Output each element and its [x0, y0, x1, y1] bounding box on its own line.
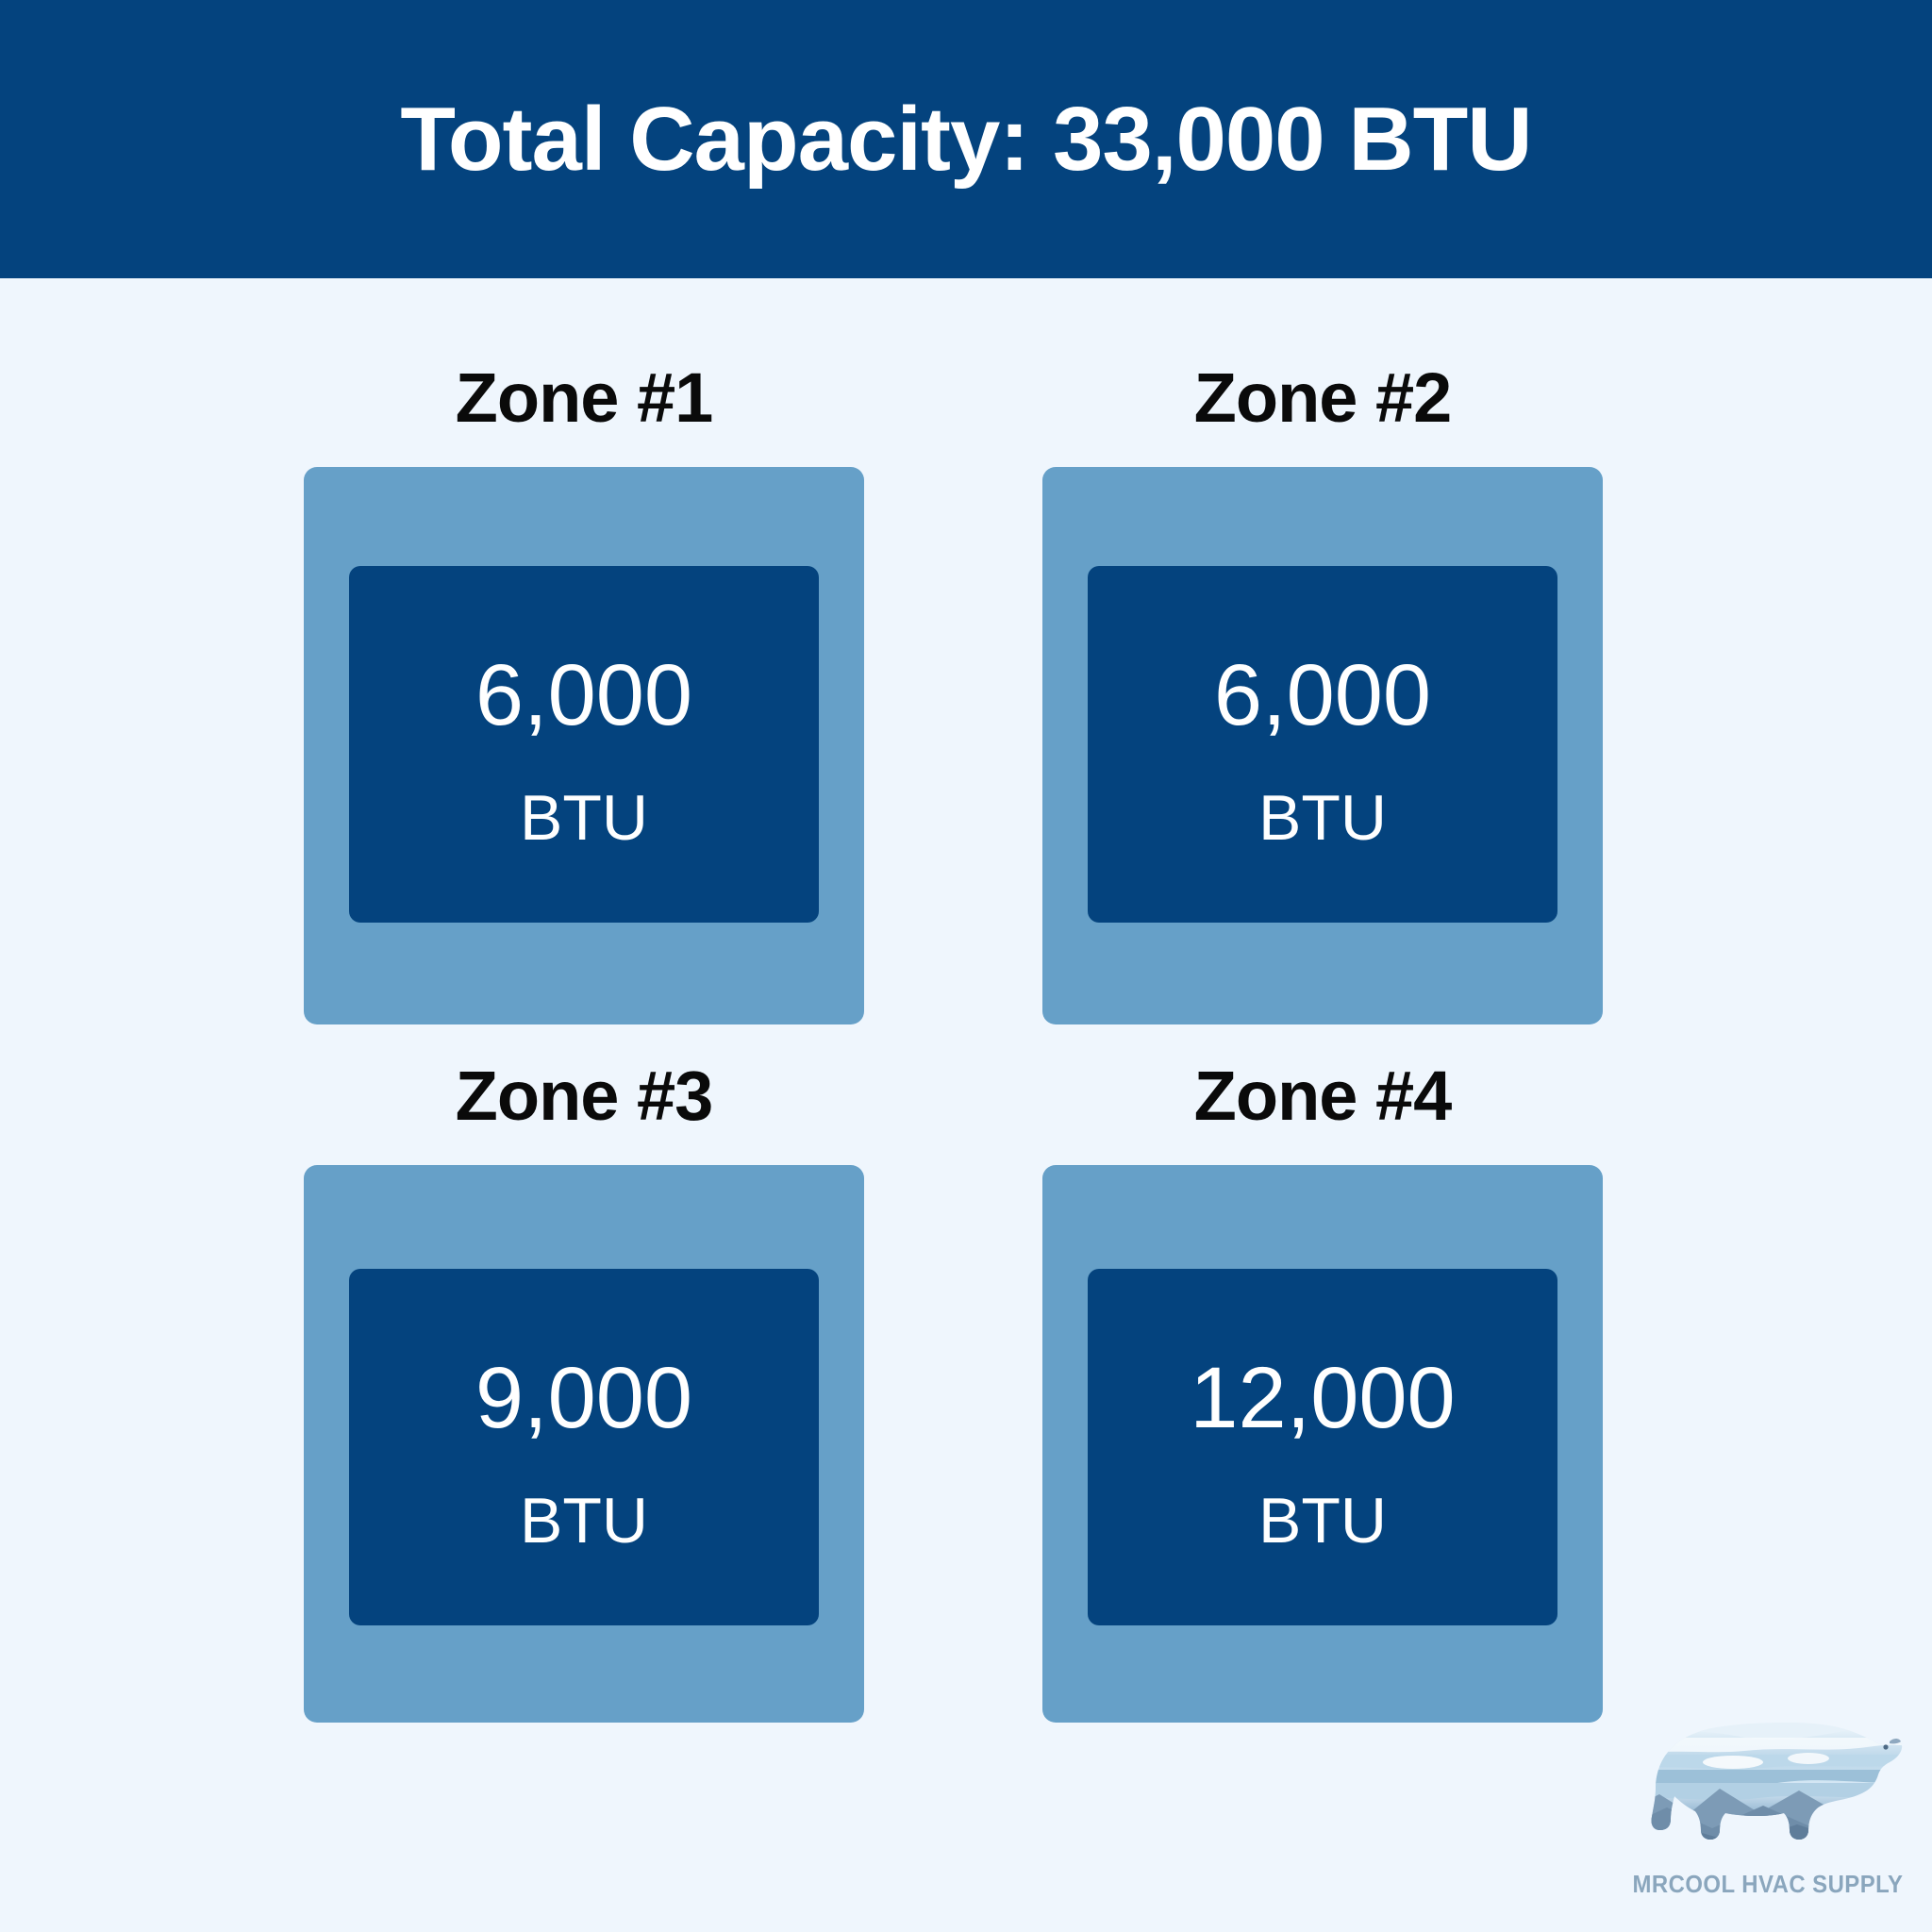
page-title: Total Capacity: 33,000 BTU [400, 94, 1531, 185]
zone-cell-3: Zone #3 9,000 BTU [304, 1054, 864, 1723]
zone-value-4: 12,000 [1190, 1353, 1455, 1444]
zone-card-4: 12,000 BTU [1042, 1165, 1603, 1723]
zone-cell-2: Zone #2 6,000 BTU [1042, 356, 1603, 1024]
zone-label-4: Zone #4 [1042, 1054, 1603, 1139]
zone-card-2: 6,000 BTU [1042, 467, 1603, 1024]
zone-card-3: 9,000 BTU [304, 1165, 864, 1723]
zone-unit-1: BTU [520, 785, 648, 852]
zone-value-3: 9,000 [475, 1353, 692, 1444]
zone-unit-3: BTU [520, 1488, 648, 1555]
zone-value-2: 6,000 [1214, 650, 1431, 741]
zone-cell-4: Zone #4 12,000 BTU [1042, 1054, 1603, 1723]
zone-card-1: 6,000 BTU [304, 467, 864, 1024]
zone-value-1: 6,000 [475, 650, 692, 741]
zone-unit-4: BTU [1258, 1488, 1387, 1555]
brand-name: MRCOOL HVAC SUPPLY [1633, 1870, 1904, 1899]
zone-label-3: Zone #3 [304, 1054, 864, 1139]
zone-label-2: Zone #2 [1042, 356, 1603, 441]
header-banner: Total Capacity: 33,000 BTU [0, 0, 1932, 278]
zone-grid: Zone #1 6,000 BTU Zone #2 6,000 BTU Zone… [0, 278, 1932, 1932]
brand-logo: MRCOOL HVAC SUPPLY [1604, 1689, 1932, 1932]
zone-unit-2: BTU [1258, 785, 1387, 852]
bear-landscape-fill [1622, 1689, 1914, 1868]
zone-value-panel-2: 6,000 BTU [1088, 566, 1557, 923]
polar-bear-icon [1622, 1689, 1914, 1868]
zone-value-panel-3: 9,000 BTU [349, 1269, 819, 1625]
zone-label-1: Zone #1 [304, 356, 864, 441]
zone-cell-1: Zone #1 6,000 BTU [304, 356, 864, 1024]
zone-value-panel-1: 6,000 BTU [349, 566, 819, 923]
zone-value-panel-4: 12,000 BTU [1088, 1269, 1557, 1625]
